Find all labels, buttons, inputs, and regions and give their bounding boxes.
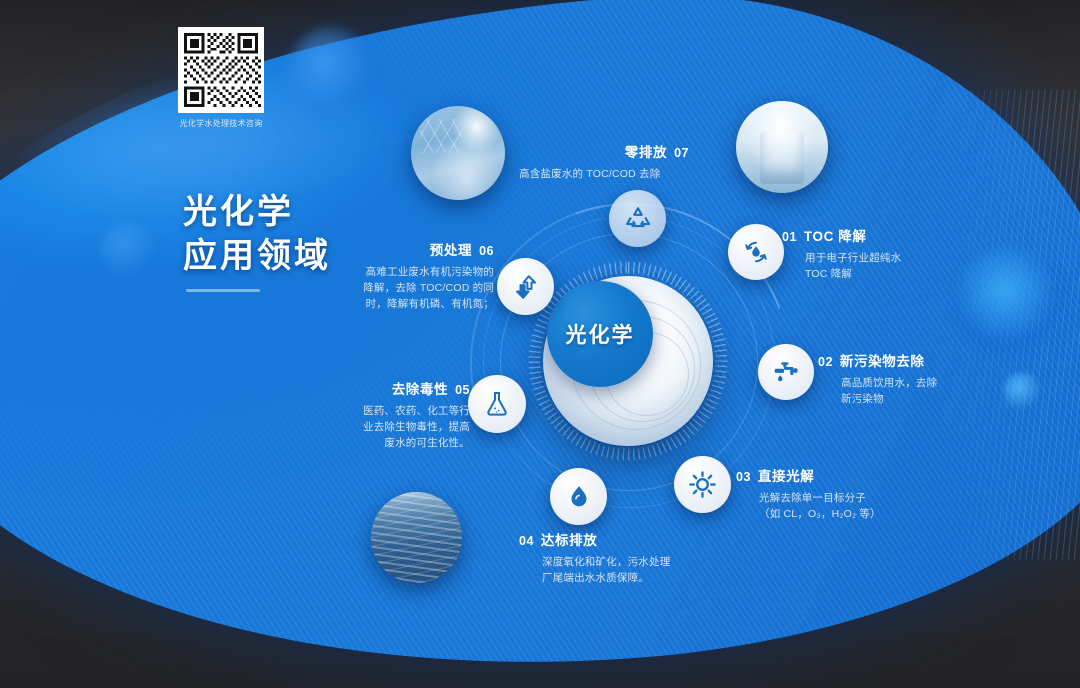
- qr-code-icon[interactable]: [178, 27, 264, 113]
- item-04-heading: 达标排放: [541, 529, 597, 549]
- recycle-icon[interactable]: [609, 190, 666, 247]
- item-07-number: 07: [674, 146, 689, 160]
- item-06-heading: 预处理: [430, 239, 472, 259]
- center-badge[interactable]: 光化学: [547, 281, 653, 387]
- center-hub: 光化学: [543, 276, 713, 446]
- faucet-icon[interactable]: [758, 344, 814, 400]
- item-06-number: 06: [479, 244, 494, 258]
- sun-icon[interactable]: [674, 456, 731, 513]
- item-02-label: 02 新污染物去除 高品质饮用水，去除 新污染物: [818, 350, 1008, 407]
- item-03-label: 03 直接光解 光解去除单一目标分子 （如 CL，O₃，H₂O₂ 等）: [736, 465, 936, 522]
- item-04-body: 深度氧化和矿化，污水处理 厂尾端出水水质保障。: [542, 554, 729, 586]
- item-01-label: 01 TOC 降解 用于电子行业超纯水 TOC 降解: [782, 225, 962, 282]
- water-drop-icon[interactable]: [550, 468, 607, 525]
- item-02-number: 02: [818, 355, 833, 369]
- page-title: 光化学 应用领域: [183, 190, 331, 278]
- item-04-number: 04: [519, 534, 534, 548]
- item-05-label: 去除毒性 05 医药、农药、化工等行 业去除生物毒性，提高 废水的可生化性。: [318, 378, 470, 451]
- item-02-body: 高品质饮用水，去除 新污染物: [841, 375, 1008, 407]
- water-pouring-glass-photo[interactable]: [736, 101, 828, 193]
- water-drop-cycle-icon[interactable]: [728, 224, 784, 280]
- center-label: 光化学: [566, 319, 635, 349]
- item-05-heading: 去除毒性: [392, 378, 448, 398]
- item-05-number: 05: [455, 383, 470, 397]
- water-treatment-plant-photo[interactable]: [371, 492, 462, 583]
- laboratory-beaker-photo[interactable]: [411, 106, 505, 200]
- item-03-number: 03: [736, 470, 751, 484]
- poster-canvas: 光化学水处理技术咨询 光化学 应用领域 光化学: [0, 0, 1080, 688]
- item-07-label: 零排放 07 高含盐废水的 TOC/COD 去除: [519, 141, 689, 182]
- item-01-heading: TOC 降解: [804, 225, 867, 245]
- arrow-exchange-icon[interactable]: [497, 258, 554, 315]
- item-01-body: 用于电子行业超纯水 TOC 降解: [805, 250, 962, 282]
- item-07-body: 高含盐废水的 TOC/COD 去除: [519, 166, 689, 182]
- item-04-label: 04 达标排放 深度氧化和矿化，污水处理 厂尾端出水水质保障。: [519, 529, 729, 586]
- qr-block: 光化学水处理技术咨询: [178, 27, 264, 139]
- item-03-body: 光解去除单一目标分子 （如 CL，O₃，H₂O₂ 等）: [759, 490, 936, 522]
- title-underline: [186, 289, 260, 292]
- item-01-number: 01: [782, 230, 797, 244]
- qr-caption: 光化学水处理技术咨询: [178, 118, 264, 129]
- flask-icon[interactable]: [468, 375, 526, 433]
- item-06-label: 预处理 06 高难工业废水有机污染物的 降解，去除 TOC/COD 的同 时，降…: [316, 239, 494, 312]
- item-06-body: 高难工业废水有机污染物的 降解，去除 TOC/COD 的同 时，降解有机磷、有机…: [316, 264, 494, 312]
- item-03-heading: 直接光解: [758, 465, 814, 485]
- title-line-2: 应用领域: [183, 234, 331, 278]
- title-line-1: 光化学: [183, 193, 294, 231]
- item-02-heading: 新污染物去除: [840, 350, 925, 370]
- item-07-heading: 零排放: [625, 141, 667, 161]
- item-05-body: 医药、农药、化工等行 业去除生物毒性，提高 废水的可生化性。: [318, 403, 470, 451]
